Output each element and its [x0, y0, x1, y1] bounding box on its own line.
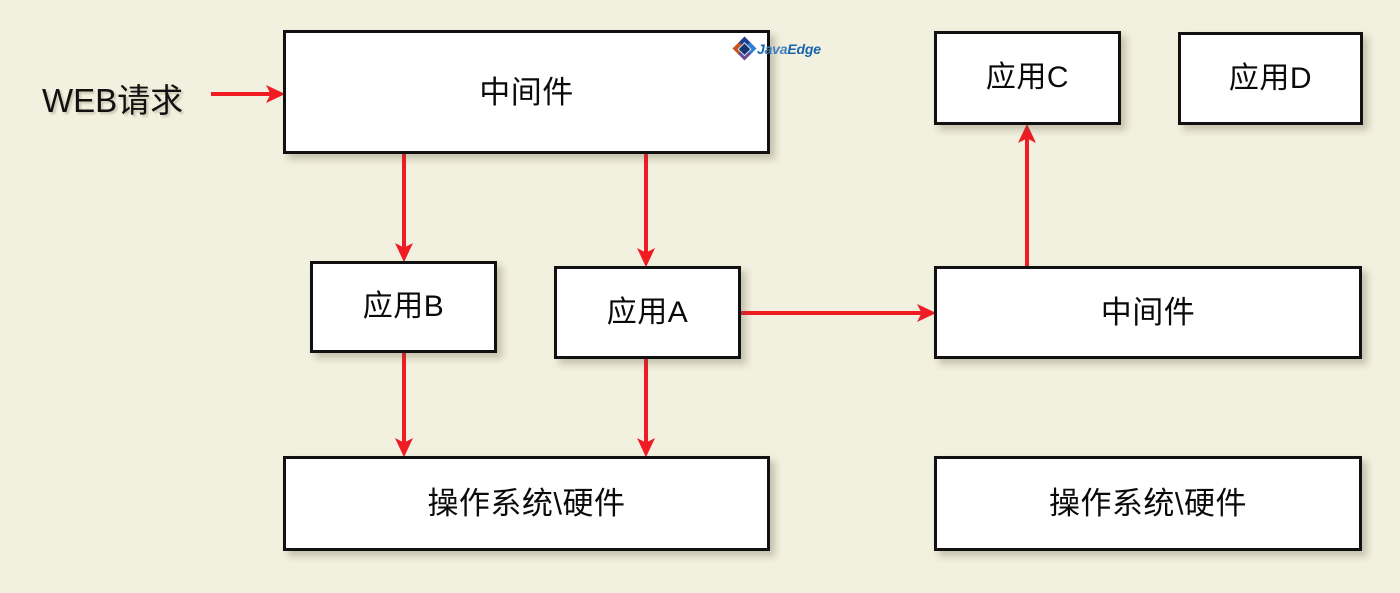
watermark-part-1: J — [757, 41, 765, 57]
javaedge-wordmark: JavaEdge — [757, 42, 821, 56]
node-left-os[interactable]: 操作系统\硬件 — [283, 456, 770, 551]
node-left-middleware-label: 中间件 — [479, 77, 574, 108]
node-app-a-label: 应用A — [607, 298, 689, 328]
node-right-middleware[interactable]: 中间件 — [934, 266, 1362, 359]
javaedge-logo-icon — [732, 36, 756, 60]
web-request-text: WEB请求 — [42, 82, 183, 119]
node-left-middleware[interactable]: 中间件 — [283, 30, 770, 154]
node-right-middleware-label: 中间件 — [1101, 297, 1196, 328]
node-app-c[interactable]: 应用C — [934, 31, 1121, 125]
node-app-b-label: 应用B — [363, 292, 445, 322]
watermark-part-2: ava — [765, 41, 788, 57]
javaedge-watermark: JavaEdge — [736, 40, 821, 57]
diagram-canvas: WEB请求 中间件 应用B 应用A 操作系统\硬件 应用C 应用D 中间件 操作… — [0, 0, 1400, 593]
node-app-d[interactable]: 应用D — [1178, 32, 1363, 125]
node-app-b[interactable]: 应用B — [310, 261, 497, 353]
node-app-a[interactable]: 应用A — [554, 266, 741, 359]
web-request-label: WEB请求 — [42, 74, 183, 122]
watermark-part-3: Edge — [787, 41, 820, 57]
node-app-c-label: 应用C — [986, 63, 1069, 93]
node-left-os-label: 操作系统\硬件 — [427, 488, 625, 519]
node-app-d-label: 应用D — [1229, 64, 1312, 94]
node-right-os-label: 操作系统\硬件 — [1049, 488, 1247, 519]
node-right-os[interactable]: 操作系统\硬件 — [934, 456, 1362, 551]
